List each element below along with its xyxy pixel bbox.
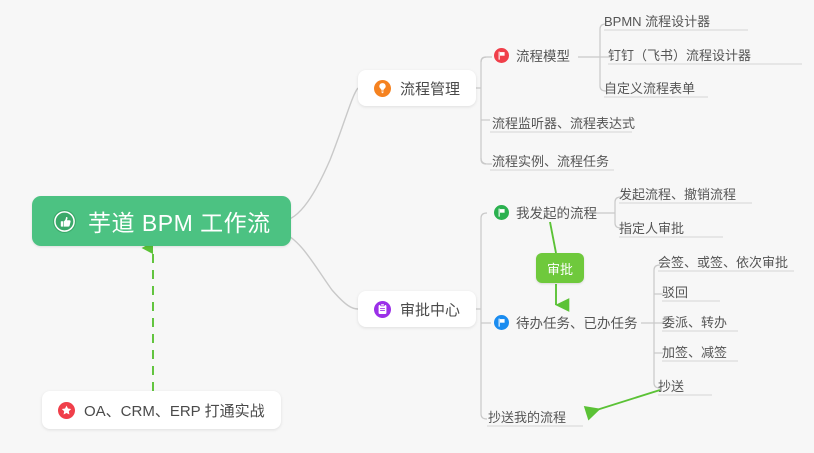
sub-node-process-model[interactable]: 流程模型 bbox=[492, 45, 572, 67]
leaf-node-assignee-approval[interactable]: 指定人审批 bbox=[615, 218, 688, 238]
sub-label-process-model: 流程模型 bbox=[516, 45, 570, 65]
arrow-started-to-approval-pill bbox=[550, 222, 556, 253]
star-icon bbox=[58, 402, 75, 419]
branch-label-process-management: 流程管理 bbox=[400, 78, 460, 99]
branch-label-approval-center: 审批中心 bbox=[400, 299, 460, 320]
leaf-node-start-cancel-process[interactable]: 发起流程、撤销流程 bbox=[615, 184, 740, 204]
flag-icon bbox=[494, 205, 509, 220]
connector-pm-branch-model bbox=[481, 57, 492, 62]
leaf-node-add-remove-sign[interactable]: 加签、减签 bbox=[658, 342, 731, 362]
arrow-cc-to-cc-my-process bbox=[587, 390, 660, 413]
leaf-node-process-instance[interactable]: 流程实例、流程任务 bbox=[488, 151, 613, 171]
leaf-node-cc-my-process[interactable]: 抄送我的流程 bbox=[484, 407, 570, 427]
connector-ac-spine bbox=[481, 213, 487, 419]
flag-icon bbox=[494, 48, 509, 63]
leaf-node-bpmn-designer[interactable]: BPMN 流程设计器 bbox=[600, 11, 714, 31]
mindmap-canvas: 芋道 BPM 工作流 流程管理 流程模型 BPMN 流程设计器 钉钉（飞书 bbox=[0, 0, 814, 453]
leaf-label-reject: 驳回 bbox=[662, 282, 688, 301]
bottom-note-node[interactable]: OA、CRM、ERP 打通实战 bbox=[42, 391, 281, 429]
leaf-node-countersign[interactable]: 会签、或签、依次审批 bbox=[654, 252, 792, 272]
clipboard-icon bbox=[374, 301, 391, 318]
leaf-label-custom-form: 自定义流程表单 bbox=[604, 78, 695, 97]
sub-node-todo-done-tasks[interactable]: 待办任务、已办任务 bbox=[492, 312, 640, 334]
leaf-label-cc: 抄送 bbox=[658, 376, 684, 395]
flag-icon bbox=[494, 315, 509, 330]
root-label: 芋道 BPM 工作流 bbox=[88, 204, 271, 238]
leaf-label-countersign: 会签、或签、依次审批 bbox=[658, 252, 788, 271]
branch-node-approval-center[interactable]: 审批中心 bbox=[358, 291, 476, 327]
leaf-label-bpmn-designer: BPMN 流程设计器 bbox=[604, 11, 710, 30]
leaf-label-process-instance: 流程实例、流程任务 bbox=[492, 151, 609, 170]
leaf-node-dingtalk-designer[interactable]: 钉钉（飞书）流程设计器 bbox=[604, 45, 755, 65]
lightbulb-icon bbox=[374, 80, 391, 97]
connector-pm-spine bbox=[481, 57, 486, 164]
annotation-approval-pill-label: 审批 bbox=[547, 259, 573, 278]
leaf-label-assignee-approval: 指定人审批 bbox=[619, 218, 684, 237]
leaf-node-cc[interactable]: 抄送 bbox=[654, 376, 688, 396]
leaf-node-custom-form[interactable]: 自定义流程表单 bbox=[600, 78, 699, 98]
leaf-label-dingtalk-designer: 钉钉（飞书）流程设计器 bbox=[608, 45, 751, 64]
leaf-node-reject[interactable]: 驳回 bbox=[658, 282, 692, 302]
root-node[interactable]: 芋道 BPM 工作流 bbox=[32, 196, 291, 246]
sub-node-my-started-process[interactable]: 我发起的流程 bbox=[492, 202, 599, 224]
thumbs-up-icon bbox=[52, 209, 77, 234]
leaf-label-add-remove-sign: 加签、减签 bbox=[662, 342, 727, 361]
leaf-node-delegate-transfer[interactable]: 委派、转办 bbox=[658, 312, 731, 332]
connector-root-to-process-management bbox=[282, 88, 358, 221]
leaf-label-delegate-transfer: 委派、转办 bbox=[662, 312, 727, 331]
branch-node-process-management[interactable]: 流程管理 bbox=[358, 70, 476, 106]
connector-root-to-approval-center bbox=[282, 233, 358, 309]
sub-label-my-started-process: 我发起的流程 bbox=[516, 202, 597, 222]
leaf-node-process-listener[interactable]: 流程监听器、流程表达式 bbox=[488, 113, 639, 133]
leaf-label-process-listener: 流程监听器、流程表达式 bbox=[492, 113, 635, 132]
sub-label-todo-done-tasks: 待办任务、已办任务 bbox=[516, 312, 638, 332]
annotation-approval-pill[interactable]: 审批 bbox=[536, 253, 584, 283]
leaf-label-start-cancel-process: 发起流程、撤销流程 bbox=[619, 184, 736, 203]
leaf-label-cc-my-process: 抄送我的流程 bbox=[488, 407, 566, 426]
bottom-note-label: OA、CRM、ERP 打通实战 bbox=[84, 400, 265, 421]
